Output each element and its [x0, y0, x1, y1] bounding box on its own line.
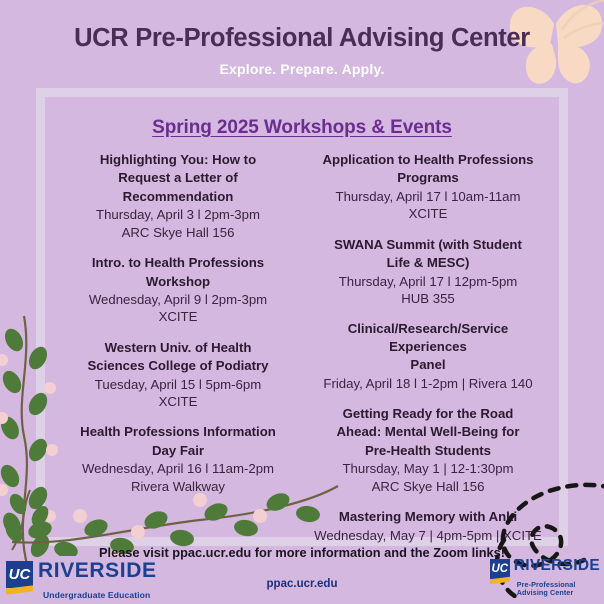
event-item: SWANA Summit (with Student Life & MESC) …: [311, 236, 545, 308]
event-item: Health Professions Information Day Fair …: [61, 423, 295, 495]
riverside-wordmark: RIVERSIDE: [38, 561, 157, 581]
uc-gold-swoosh-icon: [6, 585, 33, 594]
event-title: Mastering Memory with Anki: [311, 508, 545, 525]
event-title: Pre-Health Students: [311, 442, 545, 459]
event-title: Sciences College of Podiatry: [61, 357, 295, 374]
event-title: Workshop: [61, 273, 295, 290]
event-title: Panel: [311, 356, 545, 373]
page-title: UCR Pre-Professional Advising Center: [0, 0, 604, 52]
event-datetime: Thursday, April 17 l 10am-11am: [311, 188, 545, 205]
event-title: Life & MESC): [311, 254, 545, 271]
ucr-ppac-logo: UC RIVERSIDE Pre-Professional Advising C…: [490, 559, 600, 598]
event-item: Western Univ. of Health Sciences College…: [61, 339, 295, 411]
event-datetime: Thursday, April 3 l 2pm-3pm: [61, 206, 295, 223]
content-frame: Spring 2025 Workshops & Events Highlight…: [36, 88, 568, 546]
event-item: Getting Ready for the Road Ahead: Mental…: [311, 405, 545, 495]
content-card: Spring 2025 Workshops & Events Highlight…: [45, 97, 559, 537]
event-datetime: Wednesday, April 16 l 11am-2pm: [61, 460, 295, 477]
event-title: Health Professions Information: [61, 423, 295, 440]
event-location: ARC Skye Hall 156: [61, 224, 295, 241]
uc-gold-swoosh-icon: [490, 577, 510, 584]
event-location: ARC Skye Hall 156: [311, 478, 545, 495]
logo-subtitle-line2: Advising Center: [517, 589, 600, 598]
event-datetime: Friday, April 18 l 1-2pm | Rivera 140: [311, 375, 545, 392]
uc-badge-icon: UC: [6, 561, 33, 588]
tagline: Explore. Prepare. Apply.: [0, 52, 604, 77]
event-datetime: Wednesday, April 9 l 2pm-3pm: [61, 291, 295, 308]
event-location: XCITE: [61, 308, 295, 325]
event-location: XCITE: [311, 205, 545, 222]
event-item: Mastering Memory with Anki Wednesday, Ma…: [311, 508, 545, 544]
events-column-left: Highlighting You: How to Request a Lette…: [53, 151, 301, 495]
event-title: Intro. to Health Professions: [61, 254, 295, 271]
event-title: Day Fair: [61, 442, 295, 459]
event-item: Clinical/Research/Service Experiences Pa…: [311, 320, 545, 392]
event-title: Recommendation: [61, 188, 295, 205]
event-location: Rivera Walkway: [61, 478, 295, 495]
event-location: XCITE: [61, 393, 295, 410]
events-column-right: Application to Health Professions Progra…: [307, 151, 551, 544]
section-title: Spring 2025 Workshops & Events: [53, 117, 551, 139]
event-title: Western Univ. of Health: [61, 339, 295, 356]
event-datetime: Wednesday, May 7 | 4pm-5pm | XCITE: [311, 527, 545, 544]
events-columns: Highlighting You: How to Request a Lette…: [53, 151, 551, 544]
event-title: Getting Ready for the Road: [311, 405, 545, 422]
event-datetime: Thursday, May 1 | 12-1:30pm: [311, 460, 545, 477]
event-item: Application to Health Professions Progra…: [311, 151, 545, 223]
event-title: Application to Health Professions: [311, 151, 545, 168]
uc-badge-label: UC: [9, 566, 31, 583]
ucr-undergraduate-education-logo: UC RIVERSIDE Undergraduate Education: [6, 561, 157, 600]
logo-subtitle: Undergraduate Education: [43, 590, 157, 600]
uc-badge-icon: UC: [490, 559, 510, 579]
riverside-wordmark: RIVERSIDE: [514, 559, 600, 574]
event-title: Highlighting You: How to: [61, 151, 295, 168]
poster-header: UCR Pre-Professional Advising Center Exp…: [0, 0, 604, 88]
event-title: Programs: [311, 169, 545, 186]
event-title: Clinical/Research/Service Experiences: [311, 320, 545, 355]
uc-badge-label: UC: [491, 563, 508, 575]
event-datetime: Thursday, April 17 l 12pm-5pm: [311, 273, 545, 290]
event-item: Intro. to Health Professions Workshop We…: [61, 254, 295, 326]
event-location: HUB 355: [311, 290, 545, 307]
flyer-poster: UCR Pre-Professional Advising Center Exp…: [0, 0, 604, 604]
event-title: Request a Letter of: [61, 169, 295, 186]
event-datetime: Tuesday, April 15 l 5pm-6pm: [61, 376, 295, 393]
event-title: Ahead: Mental Well-Being for: [311, 423, 545, 440]
event-item: Highlighting You: How to Request a Lette…: [61, 151, 295, 241]
event-title: SWANA Summit (with Student: [311, 236, 545, 253]
